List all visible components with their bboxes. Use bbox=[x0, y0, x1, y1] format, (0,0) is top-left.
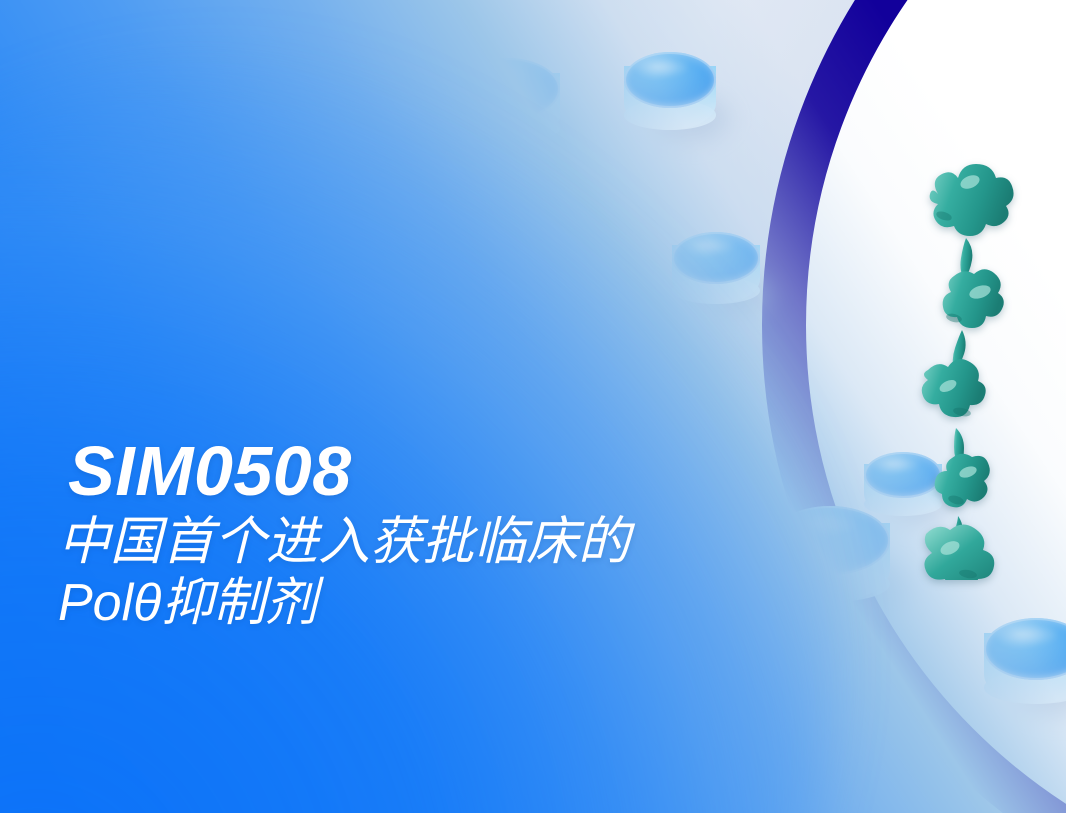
subtitle-line-2: Polθ抑制剂 bbox=[58, 573, 838, 634]
page-title: SIM0508 bbox=[68, 436, 838, 506]
protein-molecule-icon bbox=[896, 160, 1032, 580]
headline-block: SIM0508 中国首个进入获批临床的 Polθ抑制剂 bbox=[58, 436, 838, 635]
poster-canvas: SIM0508 中国首个进入获批临床的 Polθ抑制剂 bbox=[0, 0, 1066, 813]
subtitle-line-1: 中国首个进入获批临床的 bbox=[58, 512, 838, 573]
